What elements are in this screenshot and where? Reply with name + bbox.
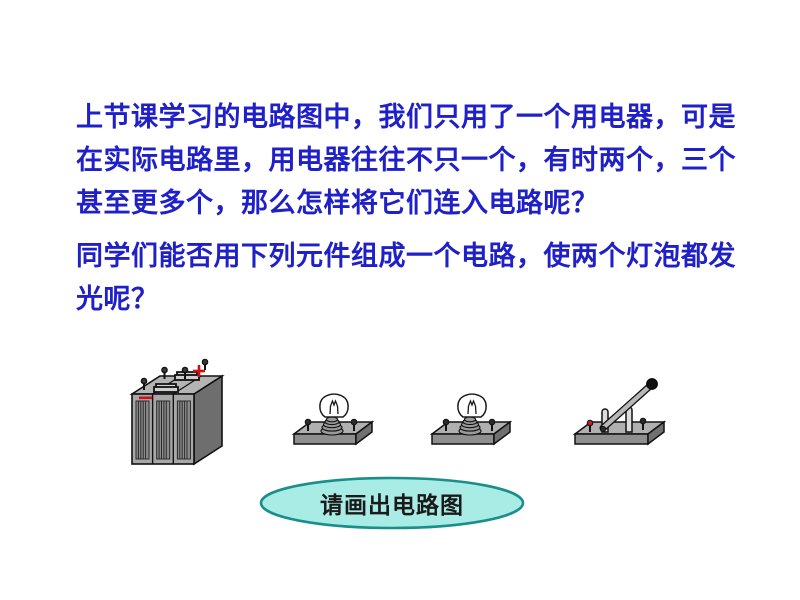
light-bulb-icon [430, 390, 512, 456]
battery-pack-icon [126, 354, 232, 470]
light-bulb-1-illustration [292, 390, 374, 461]
knife-switch-icon [572, 372, 668, 456]
paragraph-question: 同学们能否用下列元件组成一个电路，使两个灯泡都发光呢？ [76, 235, 736, 321]
paragraph-intro: 上节课学习的电路图中，我们只用了一个用电器，可是在实际电路里，用电器往往不只一个… [76, 96, 736, 225]
callout-oval-shape [259, 476, 525, 530]
slide-canvas: 上节课学习的电路图中，我们只用了一个用电器，可是在实际电路里，用电器往往不只一个… [0, 0, 800, 600]
component-row [0, 352, 800, 474]
battery-negative-terminal-marking [139, 397, 152, 400]
knife-switch-illustration [572, 372, 668, 461]
battery-pack-illustration [126, 354, 232, 475]
light-bulb-2-illustration [430, 390, 512, 461]
body-text-block: 上节课学习的电路图中，我们只用了一个用电器，可是在实际电路里，用电器往往不只一个… [76, 96, 736, 321]
callout-oval[interactable]: 请画出电路图 [259, 476, 525, 530]
light-bulb-icon [292, 390, 374, 456]
